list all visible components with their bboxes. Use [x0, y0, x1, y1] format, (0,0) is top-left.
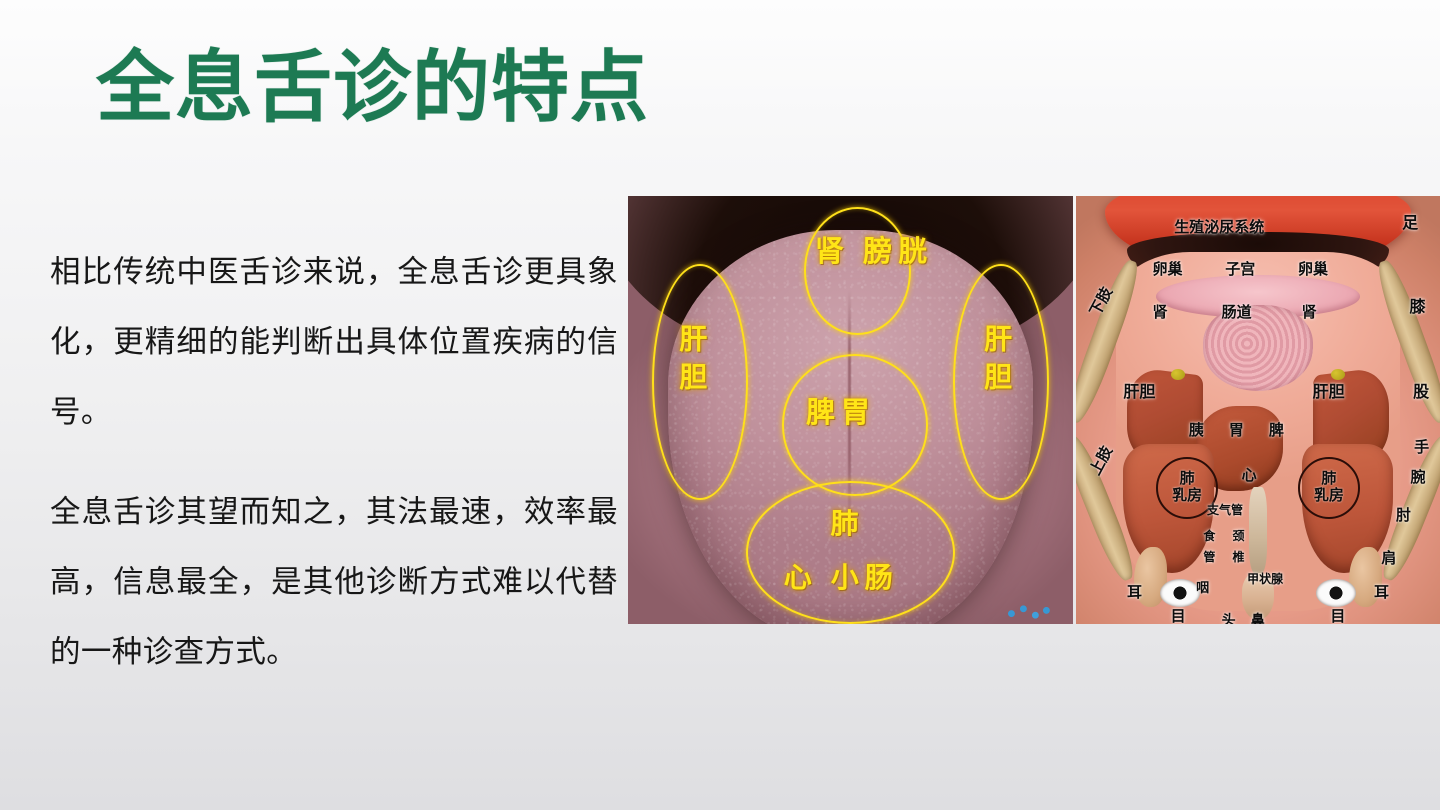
face-label-shoulder: 肩: [1381, 551, 1396, 567]
face-label-knee: 膝: [1409, 299, 1425, 316]
body-text-column: 相比传统中医舌诊来说，全息舌诊更具象化，更精细的能判断出具体位置疾病的信号。 全…: [50, 206, 618, 718]
face-label-liver-gall-right: 肝胆: [1313, 384, 1345, 401]
lung-label-right: 肺: [1321, 471, 1336, 488]
face-label-thigh: 股: [1413, 384, 1429, 401]
face-label-cervical-1: 颈: [1233, 530, 1245, 543]
face-label-lung-breast-right: 肺 乳房: [1298, 457, 1360, 519]
trachea-shape: [1249, 487, 1267, 573]
tongue-label-liver-gall-left: 肝胆: [670, 324, 710, 400]
paragraph-2: 全息舌诊其望而知之，其法最速，效率最高，信息最全，是其他诊断方式难以代替的一种诊…: [50, 477, 618, 687]
tongue-label-heart-small-intestine: 心 小肠: [784, 556, 899, 596]
face-label-upper-limb-left: 上肢: [1088, 444, 1116, 478]
slide-canvas: 全息舌诊的特点 相比传统中医舌诊来说，全息舌诊更具象化，更精细的能判断出具体位置…: [0, 0, 1440, 810]
face-label-eye-left: 目: [1171, 609, 1186, 624]
tongue-label-spleen-stomach: 脾胃: [806, 389, 876, 431]
face-label-eye-right: 目: [1330, 609, 1345, 624]
face-label-ear-left: 耳: [1127, 585, 1142, 601]
face-label-elbow: 肘: [1396, 508, 1411, 524]
face-label-nose: 鼻: [1251, 613, 1265, 624]
gallbladder-shape-left: [1171, 369, 1185, 380]
paragraph-1: 相比传统中医舌诊来说，全息舌诊更具象化，更精细的能判断出具体位置疾病的信号。: [50, 237, 618, 447]
face-label-bronchus: 支气管: [1207, 504, 1243, 517]
face-label-wrist: 腕: [1410, 470, 1425, 486]
face-label-foot: 足: [1402, 215, 1418, 232]
face-label-intestine: 肠道: [1222, 305, 1252, 321]
face-label-stomach: 胃: [1229, 423, 1244, 439]
face-label-heart: 心: [1242, 468, 1257, 484]
face-label-pancreas: 胰: [1189, 423, 1204, 439]
breast-label-left: 乳房: [1172, 488, 1202, 505]
face-label-spleen: 脾: [1269, 423, 1284, 439]
page-title: 全息舌诊的特点: [96, 46, 996, 129]
watermark-dots: [1005, 604, 1051, 620]
face-label-kidney-left: 肾: [1152, 305, 1167, 321]
face-label-esophagus-1: 食: [1203, 530, 1215, 543]
tongue-photo-background: 肾 膀胱 脾胃 肺 心 小肠 肝胆 肝胆: [628, 196, 1073, 624]
face-label-thyroid: 甲状腺: [1247, 573, 1283, 586]
face-label-ear-right: 耳: [1374, 585, 1389, 601]
title-area: 全息舌诊的特点: [96, 46, 996, 156]
face-label-ovary-left: 卵巢: [1152, 262, 1182, 278]
face-label-repro-urinary: 生殖泌尿系统: [1174, 220, 1264, 236]
tongue-map-image: 肾 膀胱 脾胃 肺 心 小肠 肝胆 肝胆: [628, 196, 1073, 624]
tongue-label-liver-gall-right: 肝胆: [975, 324, 1015, 400]
tongue-label-kidney-bladder: 肾 膀胱: [815, 228, 933, 270]
eye-shape-right: [1316, 579, 1356, 607]
face-label-head: 头: [1222, 613, 1236, 624]
intestine-shape: [1203, 305, 1312, 391]
eye-shape-left: [1160, 579, 1200, 607]
face-label-ovary-right: 卵巢: [1298, 262, 1328, 278]
face-photo-background: 生殖泌尿系统 卵巢 子宫 卵巢 肾 肠道 肾 下肢 上肢 肝胆 肝胆 胰 胃 脾…: [1076, 196, 1440, 624]
figure-group: 肾 膀胱 脾胃 肺 心 小肠 肝胆 肝胆: [628, 196, 1440, 624]
face-label-cervical-2: 椎: [1233, 551, 1245, 564]
tongue-zone-kidney-bladder: [804, 207, 911, 335]
face-label-hand: 手: [1414, 440, 1429, 456]
face-label-esophagus-2: 管: [1203, 551, 1215, 564]
face-label-liver-gall-left: 肝胆: [1123, 384, 1155, 401]
face-label-pharynx: 咽: [1196, 581, 1209, 595]
face-organ-map-image: 生殖泌尿系统 卵巢 子宫 卵巢 肾 肠道 肾 下肢 上肢 肝胆 肝胆 胰 胃 脾…: [1076, 196, 1440, 624]
lung-label-left: 肺: [1180, 471, 1195, 488]
tongue-label-lung: 肺: [830, 502, 861, 542]
breast-label-right: 乳房: [1314, 488, 1344, 505]
face-label-uterus: 子宫: [1225, 262, 1255, 278]
face-label-kidney-right: 肾: [1302, 305, 1317, 321]
